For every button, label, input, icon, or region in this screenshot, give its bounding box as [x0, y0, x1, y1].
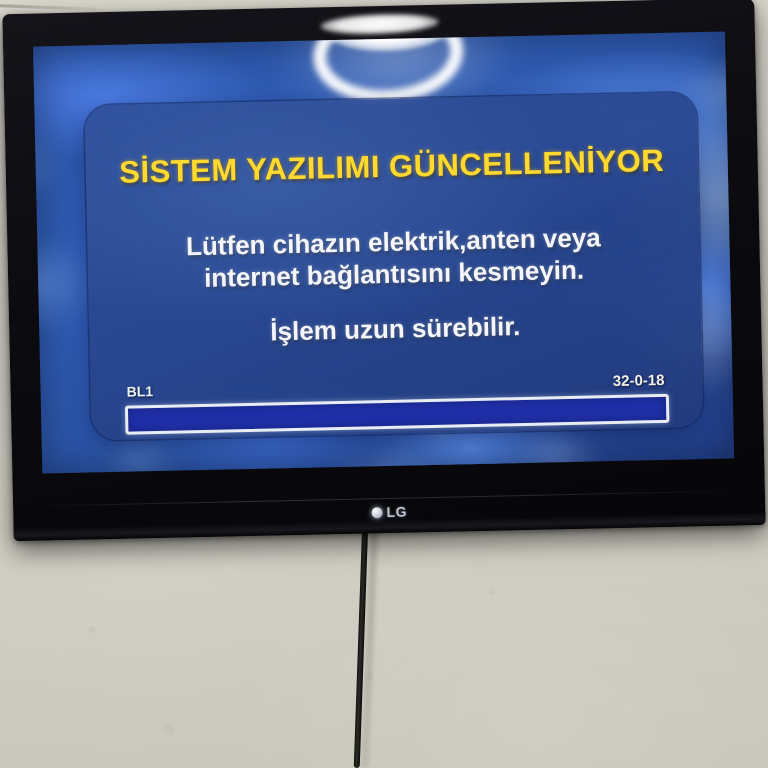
- progress-section: BL1 32-0-18: [124, 374, 669, 436]
- television: SİSTEM YAZILIMI GÜNCELLENİYOR Lütfen cih…: [2, 0, 765, 541]
- power-indicator-led-icon: [371, 507, 382, 518]
- page-title: SİSTEM YAZILIMI GÜNCELLENİYOR: [85, 142, 698, 191]
- brand-logo-label: LG: [386, 504, 407, 520]
- progress-left-label: BL1: [126, 383, 153, 400]
- brand-logo: LG: [371, 504, 407, 521]
- wall-ceiling-seam: [0, 4, 110, 11]
- tv-screen: SİSTEM YAZILIMI GÜNCELLENİYOR Lütfen cih…: [33, 32, 734, 474]
- progress-version-code: 32-0-18: [613, 372, 665, 390]
- update-dialog-panel: SİSTEM YAZILIMI GÜNCELLENİYOR Lütfen cih…: [84, 92, 703, 440]
- progress-bar-fill: [128, 409, 129, 432]
- photo-scene: SİSTEM YAZILIMI GÜNCELLENİYOR Lütfen cih…: [0, 0, 768, 768]
- dialog-body-line-3: İşlem uzun sürebilir.: [89, 307, 702, 351]
